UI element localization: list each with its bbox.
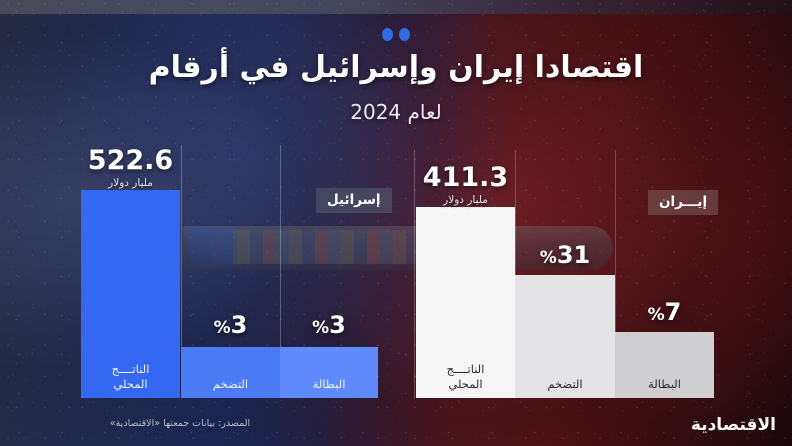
infographic-canvas: اقتصادا إيران وإسرائيل في أرقام لعام 202… xyxy=(0,0,792,446)
percent-sign-israel-unemployment: % xyxy=(312,318,329,338)
value-iran-gdp-number: 411.3 xyxy=(416,164,515,191)
percent-sign-iran-unemployment: % xyxy=(648,305,665,325)
bar-chart: الناتــــج المحلي 522.6 مليار دولار التض… xyxy=(0,0,792,446)
value-israel-unemployment-number: 3 xyxy=(329,311,346,339)
bar-label-israel-inflation: التضخم xyxy=(191,377,270,391)
value-israel-inflation-number: 3 xyxy=(231,311,248,339)
bar-israel-gdp: الناتــــج المحلي xyxy=(81,190,180,398)
bar-iran-unemployment: البطالة xyxy=(615,332,714,398)
percent-sign-iran-inflation: % xyxy=(540,248,557,268)
bar-label-iran-gdp: الناتــــج المحلي xyxy=(426,362,505,391)
bar-israel-inflation: التضخم xyxy=(181,347,280,398)
value-iran-unemployment: %7 xyxy=(615,300,714,324)
bar-label-iran-inflation: التضخم xyxy=(525,377,605,391)
bar-israel-unemployment: البطالة xyxy=(280,347,378,398)
value-israel-gdp-number: 522.6 xyxy=(81,147,180,174)
bar-label-israel-unemployment: البطالة xyxy=(290,377,368,391)
country-badge-israel: إسرائيل xyxy=(316,188,392,213)
divider-iran-0 xyxy=(414,150,415,398)
value-israel-inflation: %3 xyxy=(181,313,280,337)
value-iran-inflation-number: 31 xyxy=(557,241,590,269)
brand-logo: الاقتصادية xyxy=(691,415,776,435)
value-israel-gdp: 522.6 مليار دولار xyxy=(81,147,180,189)
value-iran-unemployment-number: 7 xyxy=(665,298,682,326)
bar-label-israel-gdp: الناتــــج المحلي xyxy=(91,362,170,391)
bar-label-iran-unemployment: البطالة xyxy=(625,377,704,391)
country-badge-iran: إيـــران xyxy=(648,190,718,215)
source-note: المصدر: بيانات جمعتها «الاقتصادية» xyxy=(0,418,360,429)
percent-sign-israel-inflation: % xyxy=(214,318,231,338)
value-iran-inflation: %31 xyxy=(515,243,615,267)
value-iran-gdp: 411.3 مليار دولار xyxy=(416,164,515,206)
value-israel-unemployment: %3 xyxy=(280,313,378,337)
value-israel-gdp-unit: مليار دولار xyxy=(81,178,180,189)
bar-iran-inflation: التضخم xyxy=(515,275,615,398)
value-iran-gdp-unit: مليار دولار xyxy=(416,195,515,206)
bar-iran-gdp: الناتــــج المحلي xyxy=(416,207,515,398)
